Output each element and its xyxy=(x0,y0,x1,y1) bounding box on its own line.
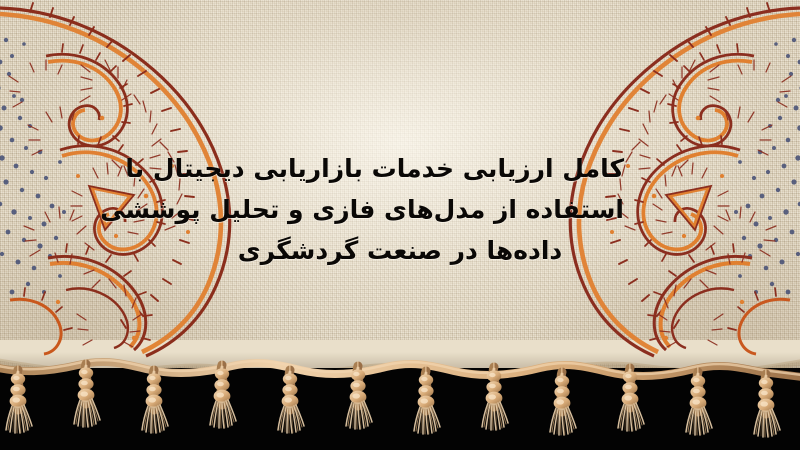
slide-title: کامل ارزیابی خدمات بازاریابی دیجیتال با … xyxy=(176,148,624,271)
tassel-fringe xyxy=(0,352,800,450)
slide-canvas: کامل ارزیابی خدمات بازاریابی دیجیتال با … xyxy=(0,0,800,450)
title-line-1: کامل ارزیابی خدمات بازاریابی دیجیتال با xyxy=(176,148,624,189)
title-line-3: داده‌ها در صنعت گردشگری xyxy=(176,230,624,271)
title-line-2: استفاده از مدل‌های فازی و تحلیل پوششی xyxy=(176,189,624,230)
